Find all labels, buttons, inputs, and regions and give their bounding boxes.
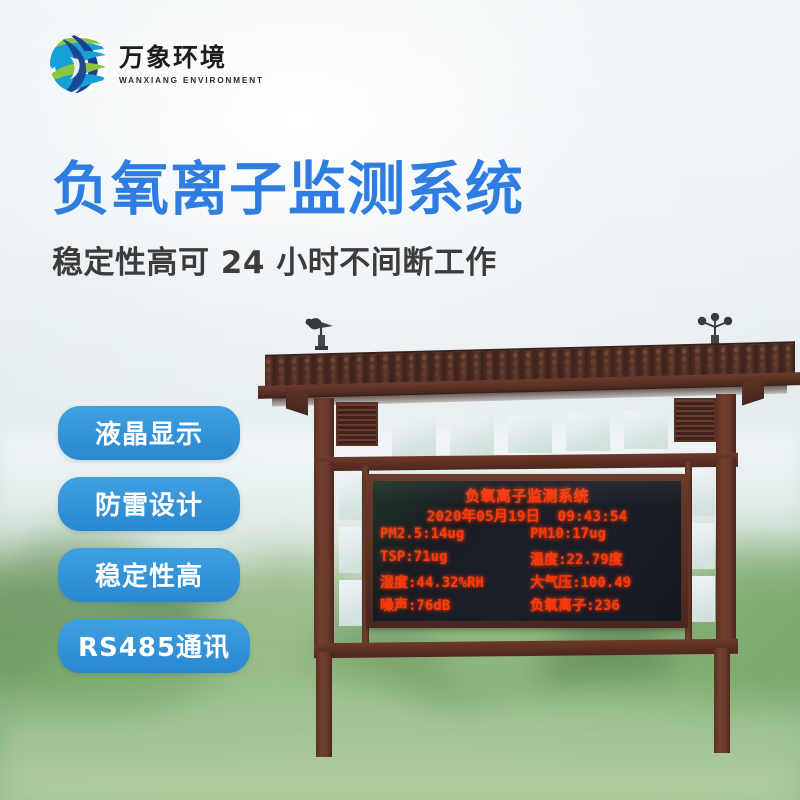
led-reading-row: TSP:71ug 温度:22.79度: [373, 549, 681, 569]
upper-left-column: [314, 398, 334, 460]
feature-badge-rs485[interactable]: RS485通讯: [58, 619, 250, 673]
led-reading-row: PM2.5:14ug PM10:17ug: [373, 526, 681, 542]
page-subtitle: 稳定性高可 24 小时不间断工作: [52, 237, 524, 282]
upper-window-5: [624, 411, 668, 449]
poster-canvas: 负氧离子监测系统 2020年05月19日 09:43:54 PM2.5:14ug…: [0, 0, 800, 800]
support-leg-left: [316, 652, 332, 757]
led-reading-pm10: PM10:17ug: [530, 526, 681, 542]
left-side-pane-2: [339, 527, 362, 573]
led-display-frame: 负氧离子监测系统 2020年05月19日 09:43:54 PM2.5:14ug…: [366, 474, 688, 628]
upper-right-column: [716, 394, 736, 456]
upper-window-2: [450, 417, 494, 455]
right-column: [716, 458, 736, 648]
led-display-screen[interactable]: 负氧离子监测系统 2020年05月19日 09:43:54 PM2.5:14ug…: [373, 481, 681, 621]
led-reading-row: 噪声:76dB 负氧离子:236: [373, 595, 681, 615]
left-louver-vent: [336, 402, 378, 446]
led-datetime: 2020年05月19日 09:43:54: [373, 505, 681, 526]
brand-name-cn: 万象环境: [119, 45, 264, 71]
left-column: [314, 462, 334, 652]
lower-rail: [314, 639, 738, 658]
led-reading-temperature: 温度:22.79度: [530, 549, 681, 569]
led-reading-humidity: 湿度:44.32%RH: [373, 572, 530, 592]
led-reading-pressure: 大气压:100.49: [530, 572, 681, 592]
headline-block: 负氧离子监测系统 稳定性高可 24 小时不间断工作: [52, 158, 524, 282]
right-side-pane-3: [692, 576, 715, 622]
feature-badge-high-stability[interactable]: 稳定性高: [58, 548, 240, 602]
upper-window-1: [392, 418, 436, 456]
led-reading-pm25: PM2.5:14ug: [373, 526, 530, 542]
monitoring-station-structure: 负氧离子监测系统 2020年05月19日 09:43:54 PM2.5:14ug…: [0, 0, 800, 800]
wind-vane-icon: [300, 313, 342, 353]
left-side-pane-3: [339, 580, 362, 626]
page-title: 负氧离子监测系统: [52, 158, 524, 221]
brand-name-en: WANXIANG ENVIRONMENT: [119, 76, 264, 85]
feature-badge-list: 液晶显示 防雷设计 稳定性高 RS485通讯: [58, 406, 250, 673]
brand-logo: 万象环境 WANXIANG ENVIRONMENT: [48, 33, 264, 95]
led-date: 2020年05月19日: [427, 509, 540, 525]
upper-window-4: [566, 413, 610, 451]
led-reading-noise: 噪声:76dB: [373, 595, 530, 615]
led-title: 负氧离子监测系统: [373, 485, 681, 506]
brand-wordmark: 万象环境 WANXIANG ENVIRONMENT: [119, 43, 264, 84]
upper-rail: [314, 453, 738, 471]
left-side-pane-1: [339, 474, 362, 520]
right-side-pane-1: [692, 470, 715, 516]
right-louver-vent: [674, 398, 716, 442]
led-reading-row: 湿度:44.32%RH 大气压:100.49: [373, 572, 681, 592]
led-time: 09:43:54: [557, 509, 627, 525]
led-reading-tsp: TSP:71ug: [373, 549, 530, 569]
right-side-pane-2: [692, 523, 715, 569]
feature-badge-lightning-proof[interactable]: 防雷设计: [58, 477, 240, 531]
support-leg-right: [714, 648, 730, 753]
upper-window-3: [508, 415, 552, 453]
led-reading-negative-ions: 负氧离子:236: [530, 595, 681, 615]
globe-swirl-logo-icon: [48, 33, 110, 95]
feature-badge-lcd-display[interactable]: 液晶显示: [58, 406, 240, 460]
